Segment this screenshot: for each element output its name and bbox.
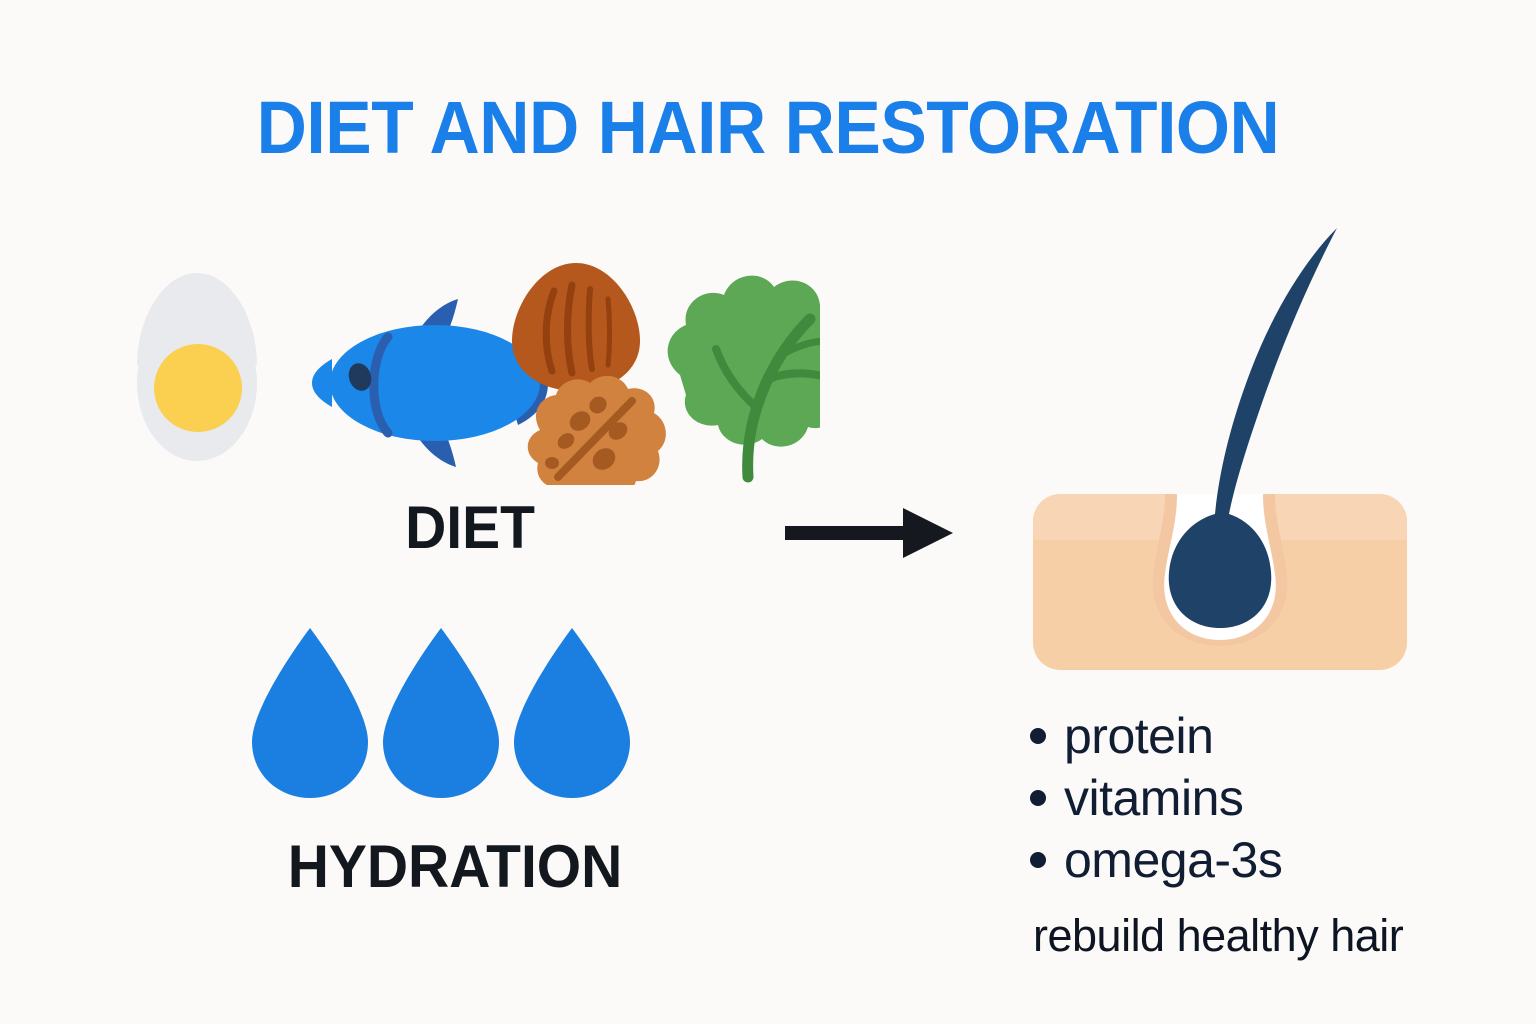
- diet-food-icons: [120, 255, 820, 485]
- walnut-icon: [528, 376, 666, 485]
- list-item: vitamins: [1030, 767, 1500, 829]
- egg-yolk: [154, 344, 242, 432]
- bullet-icon: [1030, 728, 1046, 744]
- benefits-list: protein vitamins omega-3s: [1030, 705, 1500, 891]
- egg-icon: [137, 273, 257, 461]
- infographic-canvas: DIET AND HAIR RESTORATION: [0, 0, 1536, 1024]
- hair-follicle-diagram: [1025, 222, 1415, 684]
- leafy-green-icon: [668, 276, 820, 477]
- list-item: omega-3s: [1030, 829, 1500, 891]
- diet-icon-row: [120, 255, 820, 485]
- list-item: protein: [1030, 705, 1500, 767]
- water-drop-1: [252, 628, 368, 798]
- hydration-label: HYDRATION: [184, 832, 726, 901]
- right-arrow-icon: [785, 500, 960, 570]
- water-drop-3: [514, 628, 630, 798]
- water-drops-icon: [250, 620, 650, 810]
- almond-icon: [512, 263, 640, 391]
- benefit-label: vitamins: [1064, 770, 1243, 826]
- water-drop-row: [250, 620, 650, 810]
- bullet-icon: [1030, 790, 1046, 806]
- fish-icon: [312, 299, 548, 467]
- page-title: DIET AND HAIR RESTORATION: [46, 85, 1490, 170]
- water-drop-2: [383, 628, 499, 798]
- benefit-label: omega-3s: [1064, 832, 1282, 888]
- hydration-section: HYDRATION: [120, 620, 820, 930]
- caption-text: rebuild healthy hair: [1033, 910, 1403, 962]
- bullet-icon: [1030, 852, 1046, 868]
- benefit-label: protein: [1064, 708, 1213, 764]
- diet-label: DIET: [328, 493, 613, 562]
- diet-section: DIET: [120, 255, 820, 555]
